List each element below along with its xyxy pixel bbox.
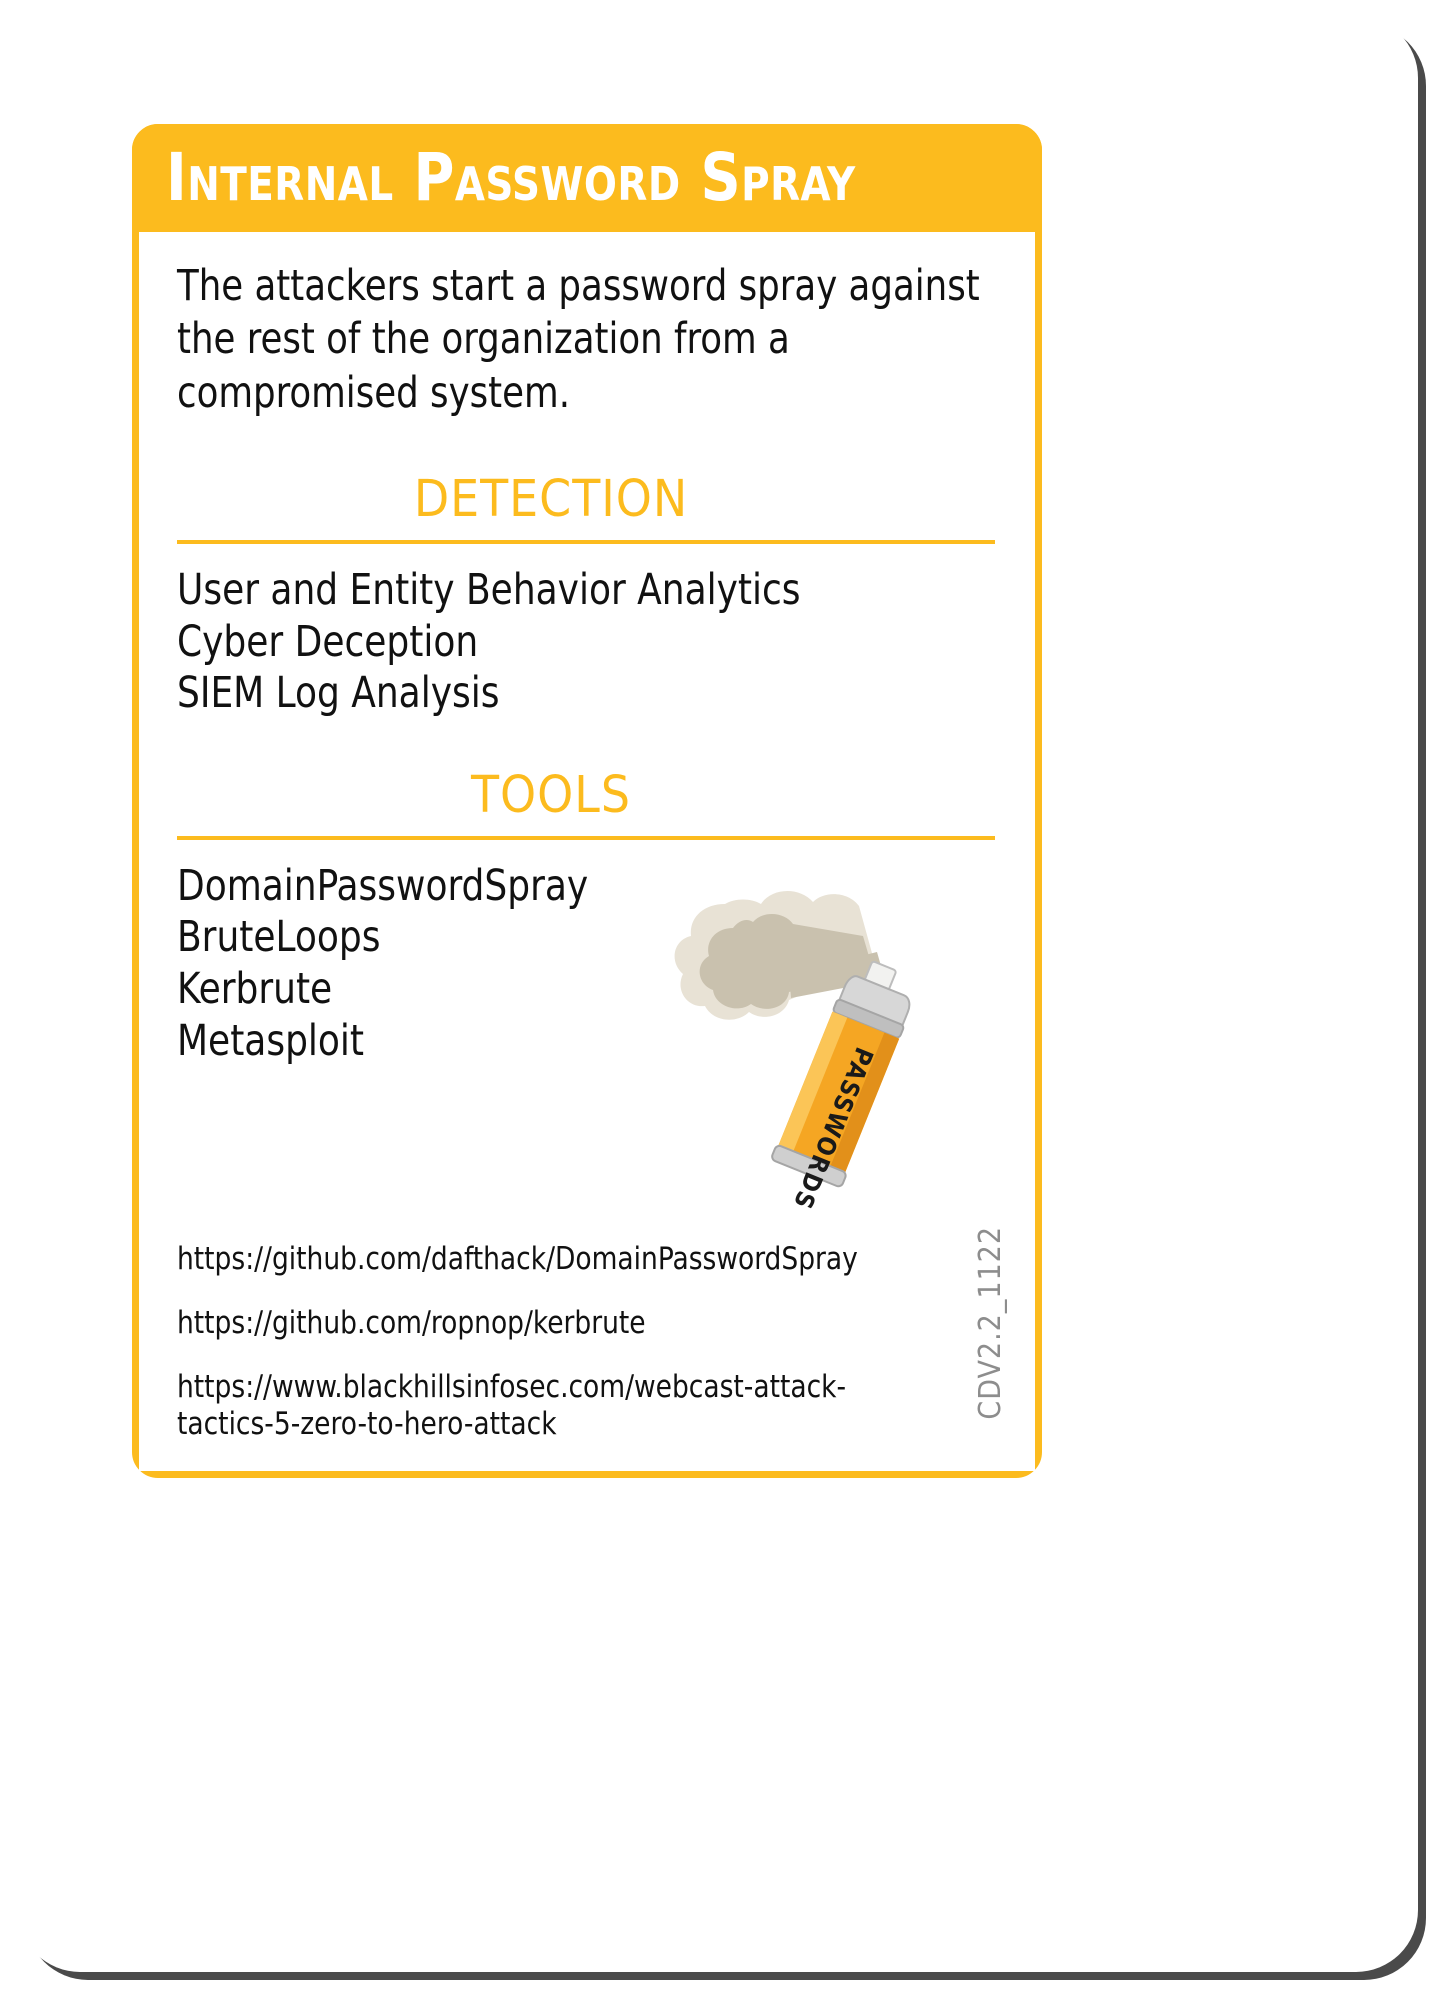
list-item: Kerbrute [177,964,938,1016]
list-item: BruteLoops [177,912,938,964]
list-item: SIEM Log Analysis [177,668,938,720]
list-item: Metasploit [177,1016,938,1068]
link-item[interactable]: https://www.blackhillsinfosec.com/webcas… [177,1369,928,1445]
detection-section: DETECTION User and Entity Behavior Analy… [177,474,995,720]
reference-links: https://github.com/dafthack/DomainPasswo… [177,1241,967,1470]
card-description: The attackers start a password spray aga… [177,260,990,420]
list-item: DomainPasswordSpray [177,861,938,913]
attack-card: Internal Password Spray The attackers st… [18,16,1418,1972]
link-item[interactable]: https://github.com/dafthack/DomainPasswo… [177,1241,928,1279]
page-title: Internal Password Spray [166,145,856,211]
card-title-banner: Internal Password Spray [132,124,1042,232]
detection-list: User and Entity Behavior Analytics Cyber… [177,565,995,720]
tools-section: TOOLS DomainPasswordSpray BruteLoops Ker… [177,770,995,1067]
tools-list: DomainPasswordSpray BruteLoops Kerbrute … [177,861,995,1067]
list-item: User and Entity Behavior Analytics [177,565,938,617]
list-item: Cyber Deception [177,617,938,669]
detection-heading: DETECTION [177,474,995,525]
tools-divider [177,836,995,840]
card-code: CDV2.2_1122 [973,1226,1008,1420]
tools-heading: TOOLS [177,770,995,821]
link-item[interactable]: https://github.com/ropnop/kerbrute [177,1305,928,1343]
detection-divider [177,540,995,544]
